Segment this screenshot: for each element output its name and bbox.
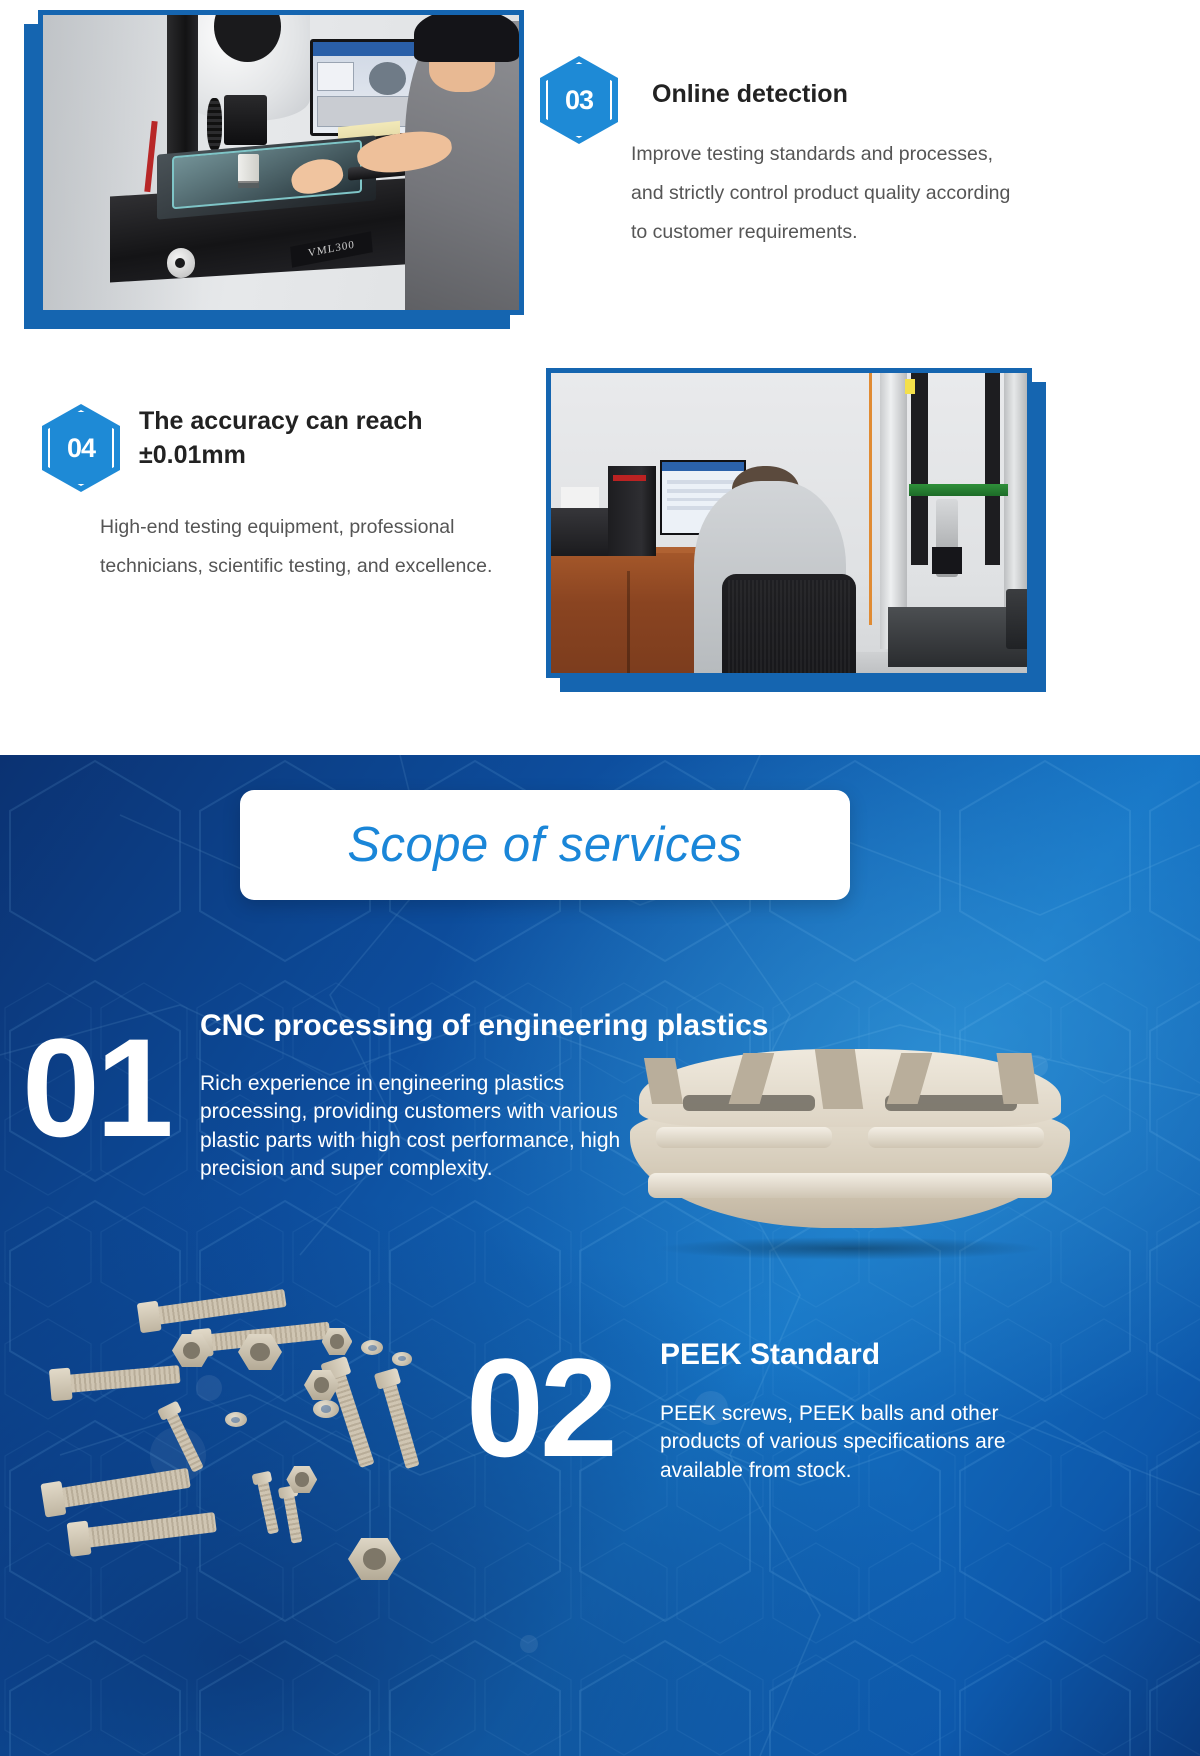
photo-image-tensile-lab — [551, 373, 1027, 673]
scope-title-01: CNC processing of engineering plastics — [200, 1009, 960, 1043]
feature-title-accuracy: The accuracy can reach ±0.01mm — [139, 405, 529, 472]
scope-title-text: Scope of services — [347, 817, 742, 873]
promo-page: VML300 03 Online detection Improve testi… — [0, 0, 1200, 1756]
product-image-peek-fasteners — [40, 1280, 480, 1580]
scope-number-02: 02 — [466, 1338, 614, 1478]
step-number: 04 — [42, 404, 120, 492]
features-section: VML300 03 Online detection Improve testi… — [0, 0, 1200, 755]
step-badge-03: 03 — [540, 56, 618, 144]
photo-image-metrology: VML300 — [43, 15, 519, 310]
scope-body-02: PEEK screws, PEEK balls and other produc… — [660, 1400, 1060, 1485]
photo-online-detection: VML300 — [38, 10, 524, 315]
feature-body-accuracy: High-end testing equipment, professional… — [100, 508, 540, 586]
feature-title-online-detection: Online detection — [652, 78, 1032, 112]
scope-body-01: Rich experience in engineering plastics … — [200, 1070, 630, 1183]
product-image-peek-components — [630, 1035, 1070, 1265]
step-number: 03 — [540, 56, 618, 144]
feature-body-online-detection: Improve testing standards and processes,… — [631, 135, 1021, 252]
scope-title-02: PEEK Standard — [660, 1338, 1080, 1372]
photo-accuracy-testing — [546, 368, 1032, 678]
scope-title-card: Scope of services — [240, 790, 850, 900]
step-badge-04: 04 — [42, 404, 120, 492]
scope-number-01: 01 — [22, 1018, 170, 1158]
